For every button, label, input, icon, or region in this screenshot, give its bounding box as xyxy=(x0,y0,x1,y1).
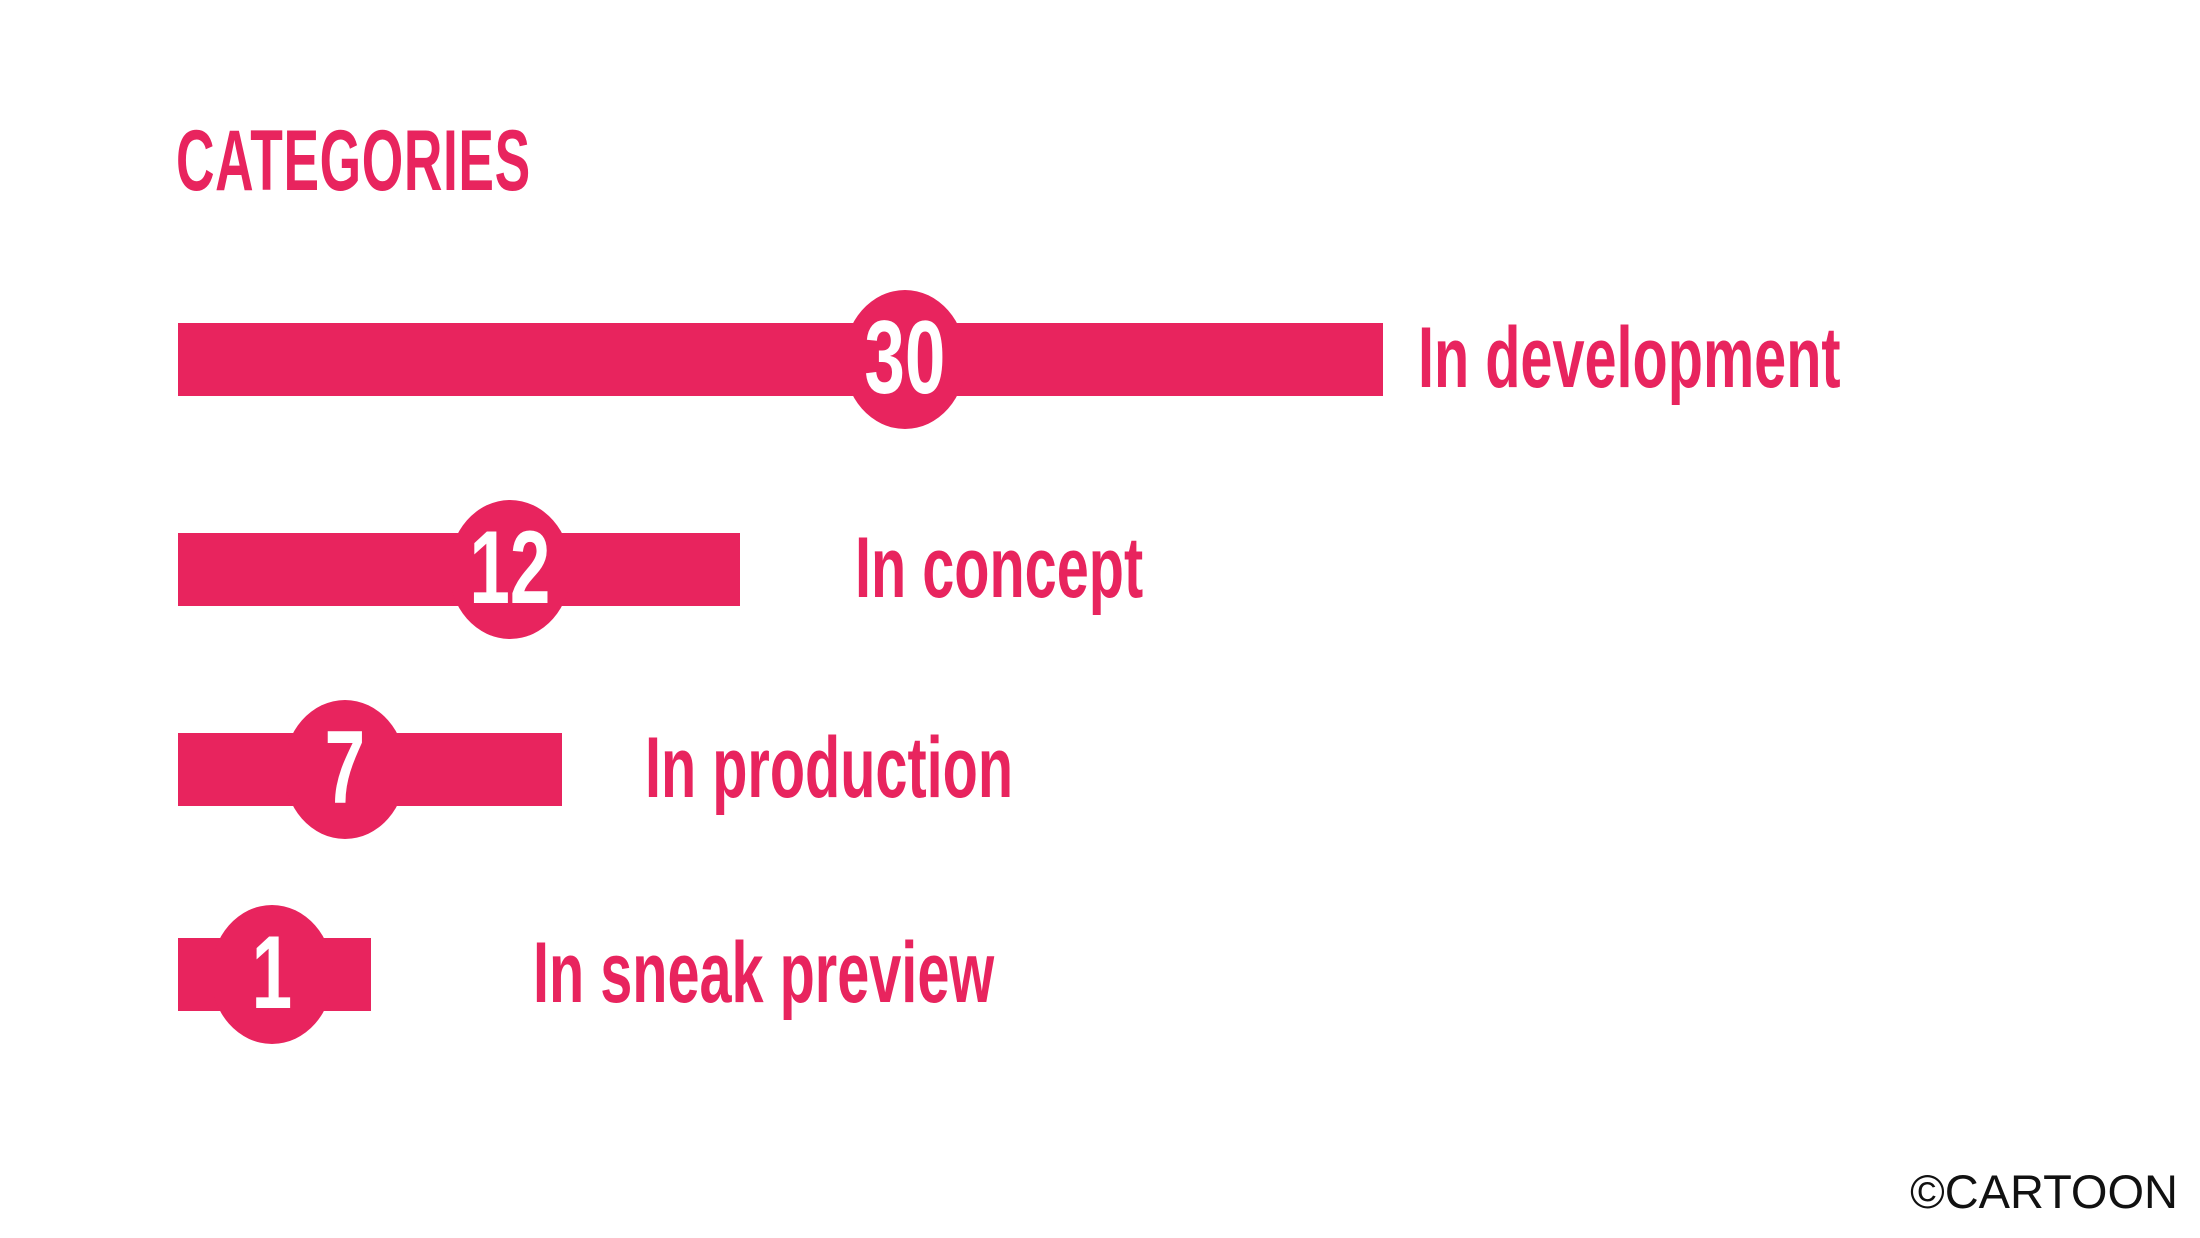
value-badge-label: 12 xyxy=(470,516,551,624)
chart-canvas: CATEGORIES 30 In development 12 In conce… xyxy=(0,0,2200,1238)
bar-row: 30 In development xyxy=(0,290,2200,430)
bar-category-label-in-production: In production xyxy=(645,718,1013,818)
bar-row: 12 In concept xyxy=(0,500,2200,640)
value-badge-in-sneak-preview: 1 xyxy=(211,905,333,1044)
value-badge-in-development: 30 xyxy=(844,290,966,429)
value-badge-label: 1 xyxy=(252,921,292,1029)
value-badge-in-production: 7 xyxy=(284,700,406,839)
value-badge-in-concept: 12 xyxy=(449,500,571,639)
bar-category-label-in-development: In development xyxy=(1418,308,1841,408)
bar-row: 1 In sneak preview xyxy=(0,905,2200,1045)
page-title: CATEGORIES xyxy=(176,118,531,204)
value-badge-label: 7 xyxy=(325,716,365,824)
bar-row: 7 In production xyxy=(0,700,2200,840)
bar-category-label-in-concept: In concept xyxy=(855,518,1143,618)
copyright-notice: ©CARTOON xyxy=(1910,1166,2178,1218)
bar-track-in-development xyxy=(178,323,1383,396)
value-badge-label: 30 xyxy=(865,306,946,414)
bar-category-label-in-sneak-preview: In sneak preview xyxy=(533,923,994,1023)
